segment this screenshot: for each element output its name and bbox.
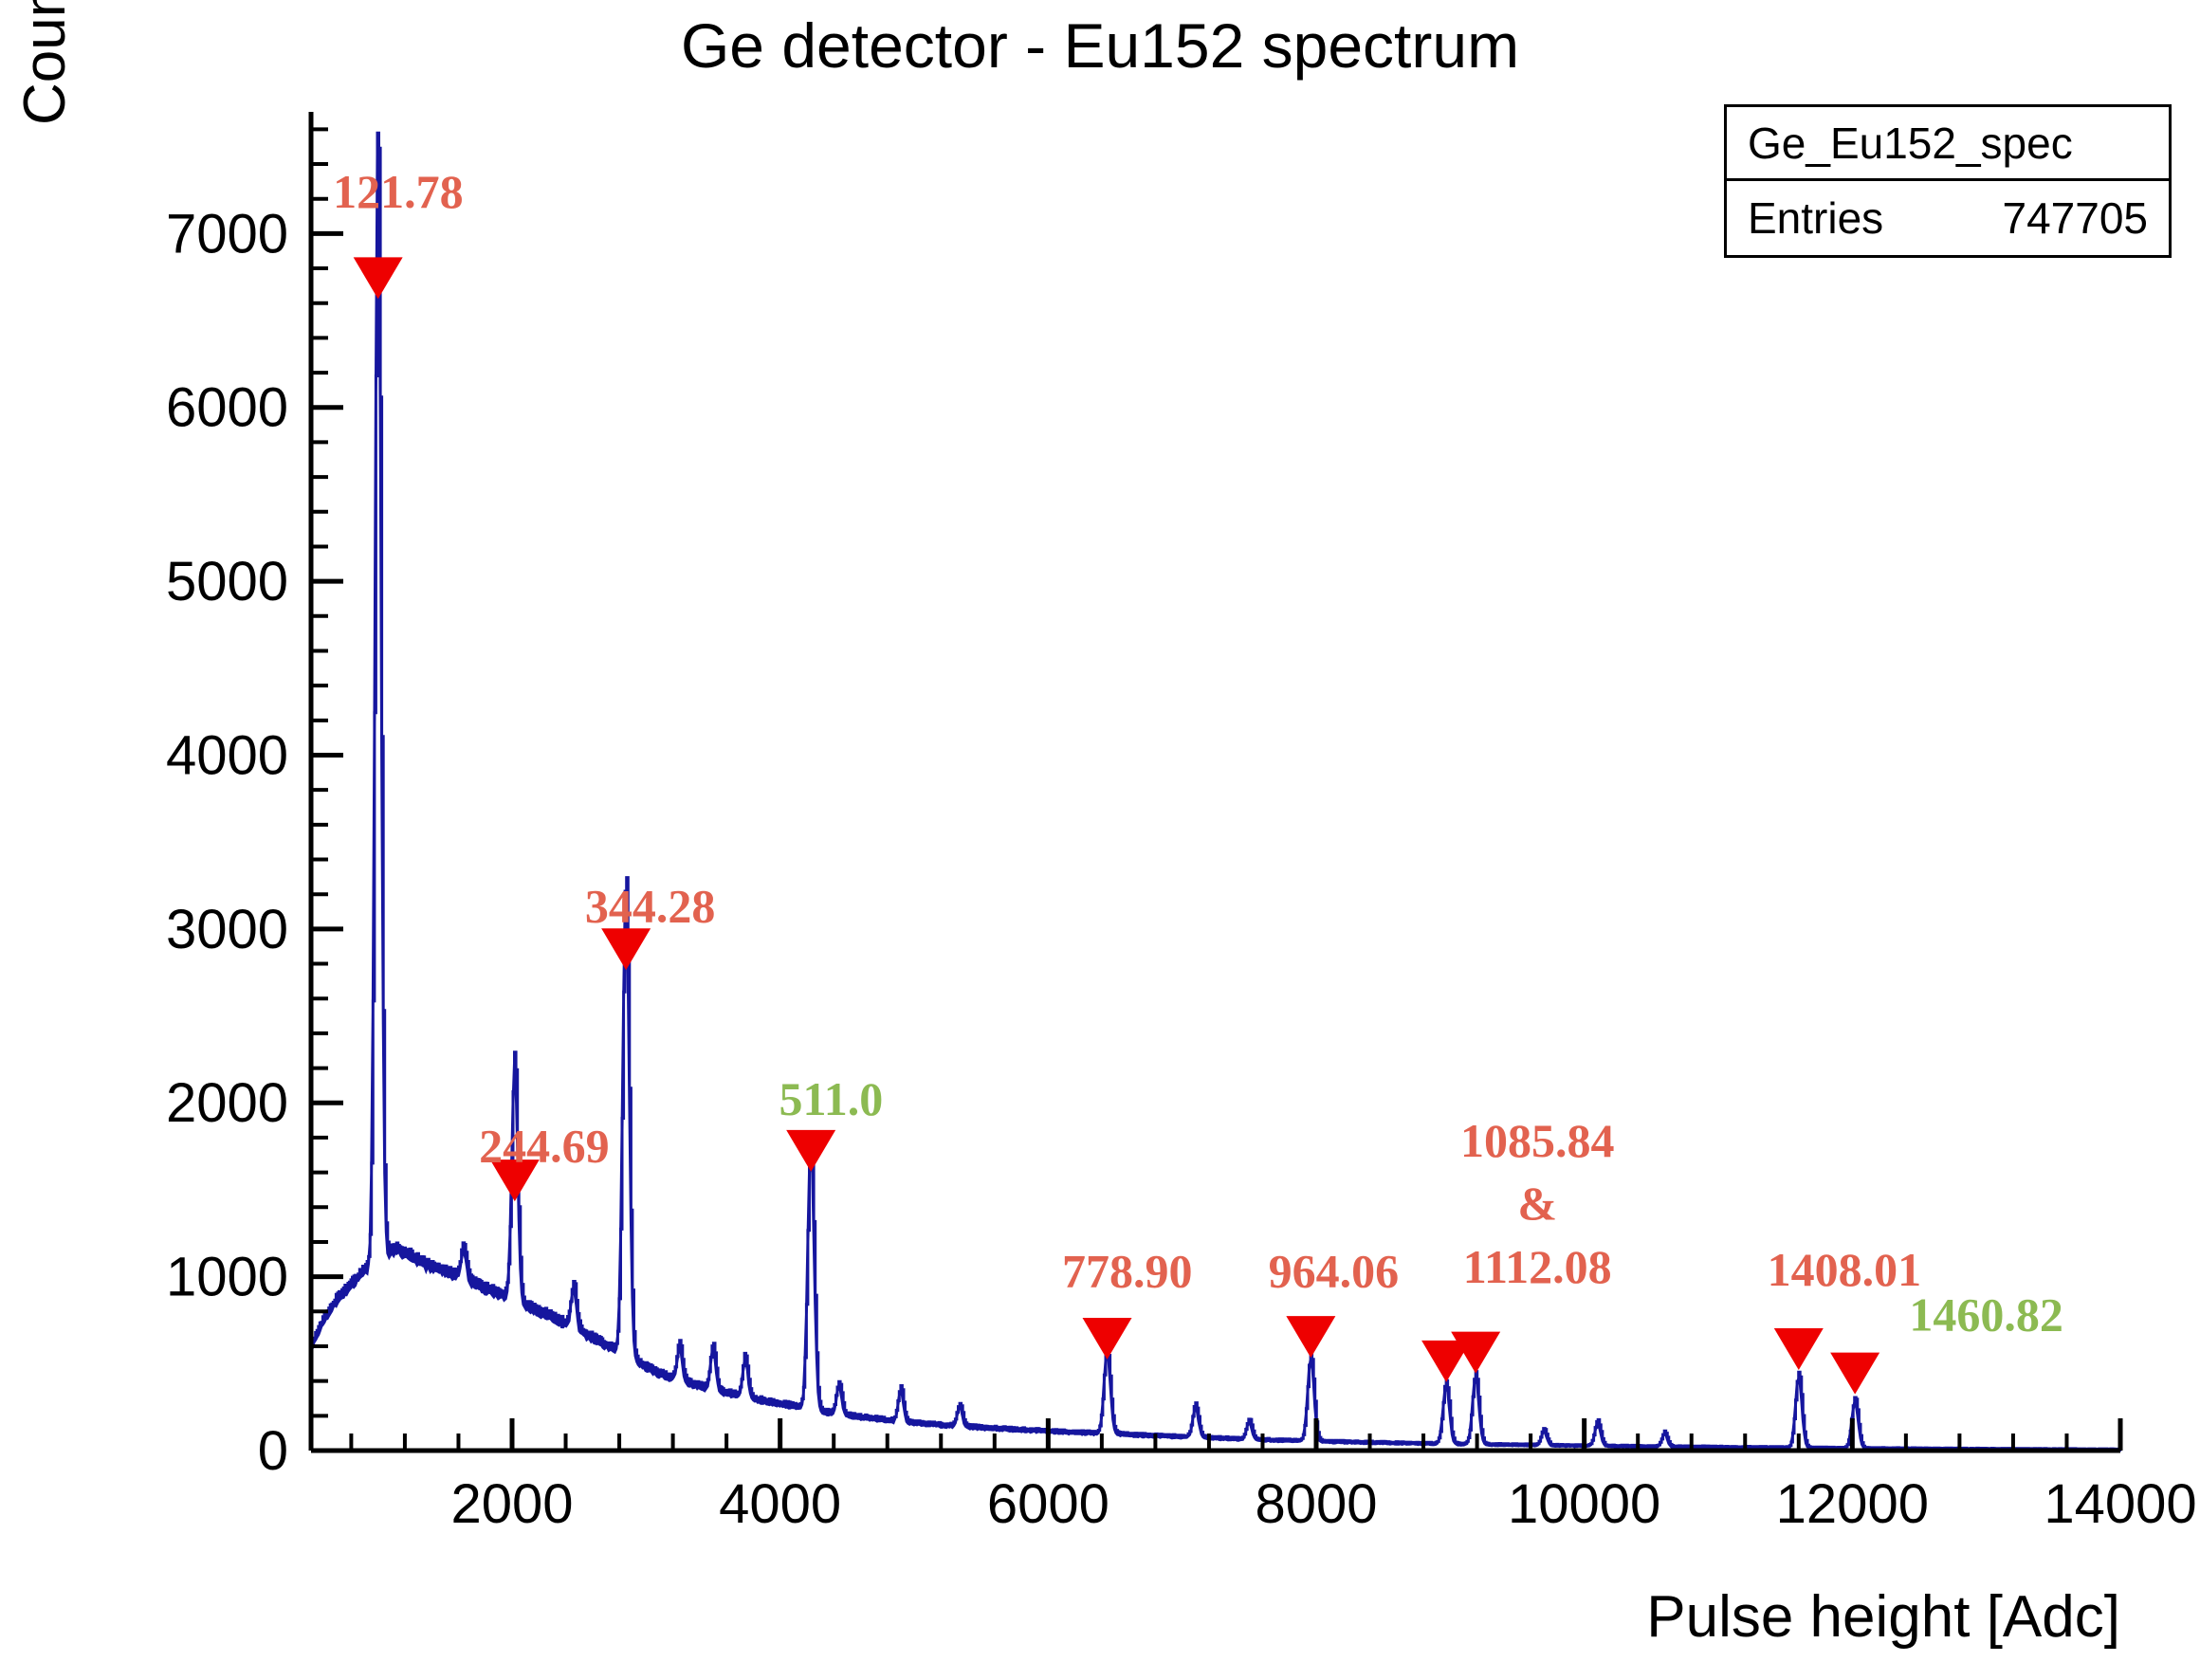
y-tick-label: 5000: [166, 551, 288, 612]
y-tick-label: 6000: [166, 377, 288, 439]
peak-marker-triangle: [1083, 1318, 1132, 1360]
y-tick-label: 7000: [166, 203, 288, 265]
x-tick-label: 10000: [1508, 1473, 1660, 1535]
peak-energy-label: 778.90: [1062, 1245, 1193, 1298]
x-tick-label: 2000: [450, 1473, 573, 1535]
peak-energy-label: 964.06: [1269, 1245, 1400, 1298]
peak-energy-label: 1112.08: [1463, 1240, 1612, 1293]
peak-energy-label: 1460.82: [1909, 1287, 2063, 1341]
x-tick-label: 4000: [719, 1473, 841, 1535]
peak-energy-label: 244.69: [479, 1120, 610, 1173]
root-canvas: Ge detector - Eu152 spectrum 20004000600…: [0, 0, 2200, 1680]
peak-marker-triangle: [601, 928, 651, 970]
peak-marker-triangle: [786, 1130, 835, 1172]
peak-energy-label: 121.78: [333, 165, 464, 218]
x-axis-title: Pulse height [Adc]: [1646, 1584, 2120, 1650]
stats-entries-value: 747705: [2003, 192, 2149, 244]
y-axis-title: Counts/4 Adc: [12, 0, 78, 125]
peak-marker-triangle: [1830, 1353, 1879, 1395]
x-tick-label: 12000: [1776, 1473, 1929, 1535]
stats-box[interactable]: Ge_Eu152_spec Entries 747705: [1724, 104, 2172, 258]
y-tick-label: 3000: [166, 899, 288, 960]
x-tick-label: 6000: [987, 1473, 1109, 1535]
peak-energy-label: 1085.84: [1460, 1114, 1615, 1167]
peak-energy-label: 1408.01: [1768, 1243, 1922, 1296]
stats-title-row: Ge_Eu152_spec: [1727, 107, 2169, 181]
peak-marker-triangle: [1774, 1328, 1824, 1370]
peak-energy-label: 344.28: [585, 880, 716, 933]
y-tick-label: 4000: [166, 724, 288, 786]
y-tick-label: 0: [258, 1420, 288, 1482]
x-tick-label: 8000: [1255, 1473, 1377, 1535]
peak-marker-triangle: [1286, 1316, 1335, 1358]
peak-energy-label: &: [1517, 1177, 1557, 1230]
x-tick-label: 14000: [2044, 1473, 2196, 1535]
stats-entries-row: Entries 747705: [1727, 181, 2169, 255]
stats-entries-label: Entries: [1748, 192, 1883, 244]
y-tick-label: 2000: [166, 1072, 288, 1134]
peak-energy-label: 511.0: [779, 1072, 883, 1125]
peak-marker-triangle: [354, 257, 403, 299]
stats-histogram-name: Ge_Eu152_spec: [1748, 118, 2073, 169]
y-tick-label: 1000: [166, 1247, 288, 1308]
